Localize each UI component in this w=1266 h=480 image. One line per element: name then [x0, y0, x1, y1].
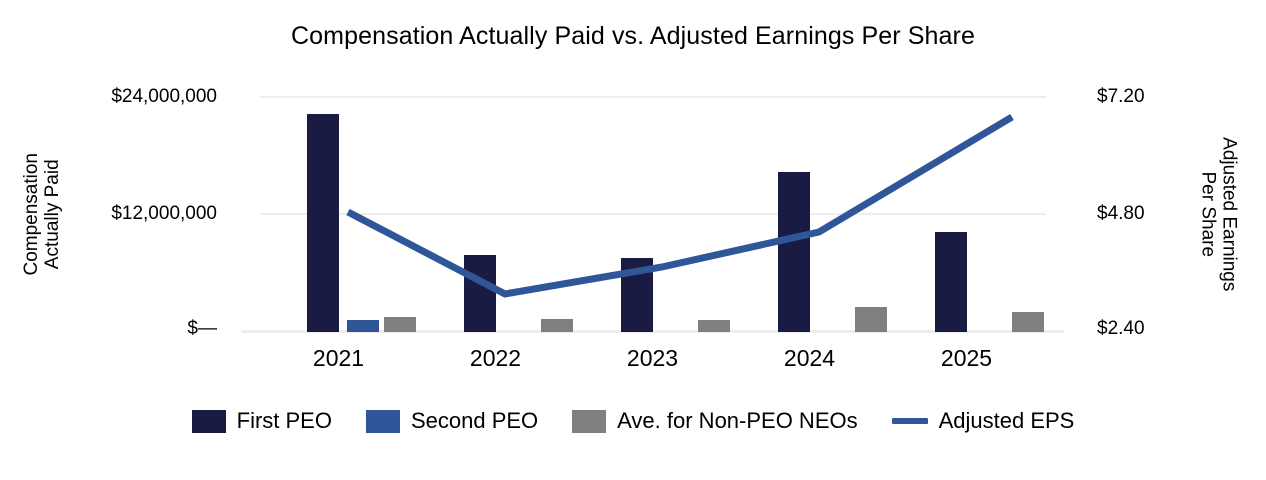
eps-line-series: [348, 117, 1012, 294]
chart-legend: First PEO Second PEO Ave. for Non-PEO NE…: [0, 408, 1266, 434]
legend-swatch-second-peo: [366, 410, 400, 433]
y-axis-left-title-line-1: Compensation: [21, 153, 42, 276]
y-axis-left-tick-12m: $12,000,000: [111, 203, 217, 225]
chart-title: Compensation Actually Paid vs. Adjusted …: [0, 22, 1266, 51]
y-axis-right-tick-480: $4.80: [1097, 203, 1145, 225]
legend-label-first-peo: First PEO: [237, 408, 332, 434]
y-axis-left-tick-24m: $24,000,000: [111, 86, 217, 108]
eps-line-layer: [260, 96, 1046, 332]
legend-item-first-peo: First PEO: [192, 408, 332, 434]
legend-swatch-first-peo: [192, 410, 226, 433]
legend-label-second-peo: Second PEO: [411, 408, 538, 434]
x-axis-tick-2024: 2024: [731, 345, 888, 372]
y-axis-right-tick-240: $2.40: [1097, 318, 1145, 340]
x-axis-tick-2021: 2021: [260, 345, 417, 372]
legend-label-adjusted-eps: Adjusted EPS: [939, 408, 1075, 434]
y-axis-right-title-line-1: Adjusted Earnings: [1218, 137, 1239, 291]
y-axis-left-tick-zero: $—: [187, 318, 217, 340]
legend-swatch-adjusted-eps: [892, 418, 928, 424]
y-axis-left-title-line-2: Actually Paid: [42, 153, 63, 276]
x-axis-tick-2023: 2023: [574, 345, 731, 372]
y-axis-left-title: Compensation Actually Paid: [20, 96, 64, 332]
legend-item-second-peo: Second PEO: [366, 408, 538, 434]
legend-swatch-non-peo-neos: [572, 410, 606, 433]
plot-area: [260, 96, 1046, 332]
y-axis-right-title: Adjusted Earnings Per Share: [1195, 96, 1241, 332]
y-axis-right-title-line-2: Per Share: [1197, 137, 1218, 291]
y-axis-right-tick-720: $7.20: [1097, 86, 1145, 108]
x-axis-tick-2025: 2025: [888, 345, 1045, 372]
legend-item-non-peo-neos: Ave. for Non-PEO NEOs: [572, 408, 857, 434]
legend-item-adjusted-eps: Adjusted EPS: [892, 408, 1075, 434]
x-axis-tick-2022: 2022: [417, 345, 574, 372]
chart-container: Compensation Actually Paid vs. Adjusted …: [0, 0, 1266, 480]
legend-label-non-peo-neos: Ave. for Non-PEO NEOs: [617, 408, 857, 434]
